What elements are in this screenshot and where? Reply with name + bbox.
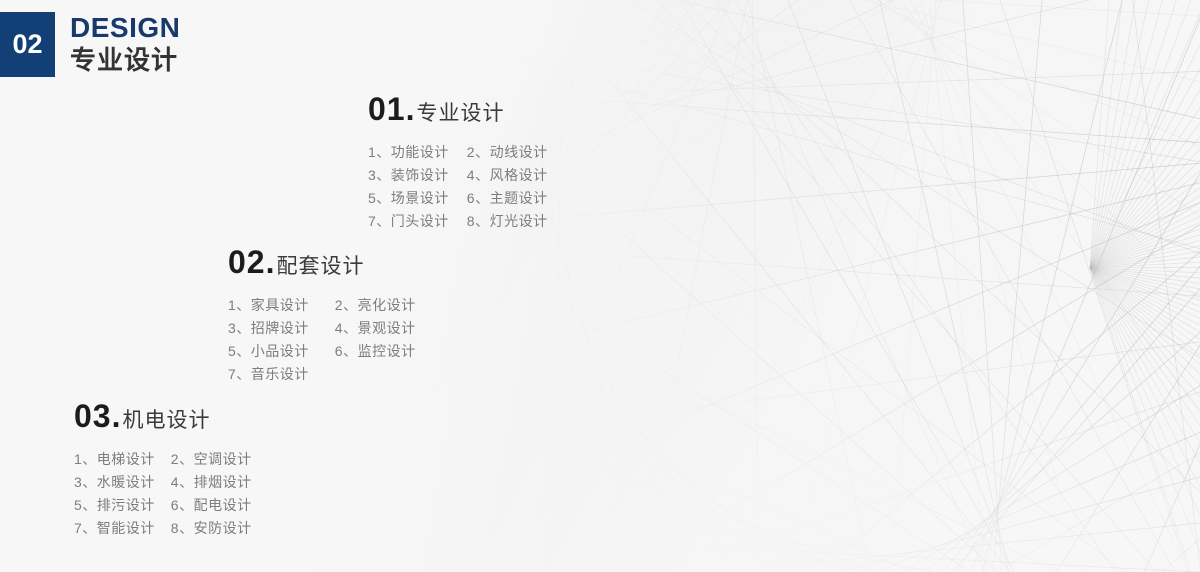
- list-item: 7、音乐设计: [228, 367, 309, 381]
- block-title-label: 专业设计: [416, 97, 504, 131]
- block-item-list: 1、电梯设计 2、空调设计 3、水暖设计 4、排烟设计 5、排污设计 6、配电设…: [74, 452, 252, 535]
- list-item: 3、招牌设计: [228, 321, 309, 335]
- list-item: 2、空调设计: [171, 452, 252, 466]
- list-item: 5、小品设计: [228, 344, 309, 358]
- list-item: 3、装饰设计: [368, 168, 449, 182]
- block-heading: 02. 配套设计: [228, 245, 416, 284]
- section-title-en: DESIGN: [70, 13, 180, 43]
- block-index-label: 02.: [228, 245, 275, 279]
- list-item: 8、安防设计: [171, 521, 252, 535]
- list-item: 7、门头设计: [368, 214, 449, 228]
- content-block-02: 02. 配套设计 1、家具设计 2、亮化设计 3、招牌设计 4、景观设计 5、小…: [228, 245, 416, 381]
- list-item: 1、电梯设计: [74, 452, 155, 466]
- list-item: 5、场景设计: [368, 191, 449, 205]
- block-item-list: 1、功能设计 2、动线设计 3、装饰设计 4、风格设计 5、场景设计 6、主题设…: [368, 145, 548, 228]
- list-item: 5、排污设计: [74, 498, 155, 512]
- list-item: 4、景观设计: [335, 321, 416, 335]
- block-title-label: 配套设计: [276, 250, 364, 284]
- section-header-text: DESIGN 专业设计: [70, 13, 180, 75]
- block-item-list: 1、家具设计 2、亮化设计 3、招牌设计 4、景观设计 5、小品设计 6、监控设…: [228, 298, 416, 381]
- content-block-01: 01. 专业设计 1、功能设计 2、动线设计 3、装饰设计 4、风格设计 5、场…: [368, 92, 548, 228]
- list-item: 4、风格设计: [467, 168, 548, 182]
- block-heading: 01. 专业设计: [368, 92, 548, 131]
- section-number-badge: 02: [0, 12, 55, 77]
- list-item: 2、动线设计: [467, 145, 548, 159]
- list-item: 7、智能设计: [74, 521, 155, 535]
- list-item: 4、排烟设计: [171, 475, 252, 489]
- list-item: 3、水暖设计: [74, 475, 155, 489]
- list-item: 6、监控设计: [335, 344, 416, 358]
- block-index-label: 01.: [368, 92, 415, 126]
- list-item: 6、主题设计: [467, 191, 548, 205]
- list-item: 6、配电设计: [171, 498, 252, 512]
- list-item: 2、亮化设计: [335, 298, 416, 312]
- list-item: 8、灯光设计: [467, 214, 548, 228]
- content-block-03: 03. 机电设计 1、电梯设计 2、空调设计 3、水暖设计 4、排烟设计 5、排…: [74, 399, 252, 535]
- slide-root: 02 DESIGN 专业设计 01. 专业设计 1、功能设计 2、动线设计 3、…: [0, 0, 1200, 572]
- section-number-label: 02: [12, 31, 42, 58]
- list-item: 1、家具设计: [228, 298, 309, 312]
- block-heading: 03. 机电设计: [74, 399, 252, 438]
- list-item: 1、功能设计: [368, 145, 449, 159]
- block-index-label: 03.: [74, 399, 121, 433]
- section-header: 02 DESIGN 专业设计: [0, 12, 180, 77]
- section-title-cn: 专业设计: [70, 45, 180, 75]
- block-title-label: 机电设计: [122, 404, 210, 438]
